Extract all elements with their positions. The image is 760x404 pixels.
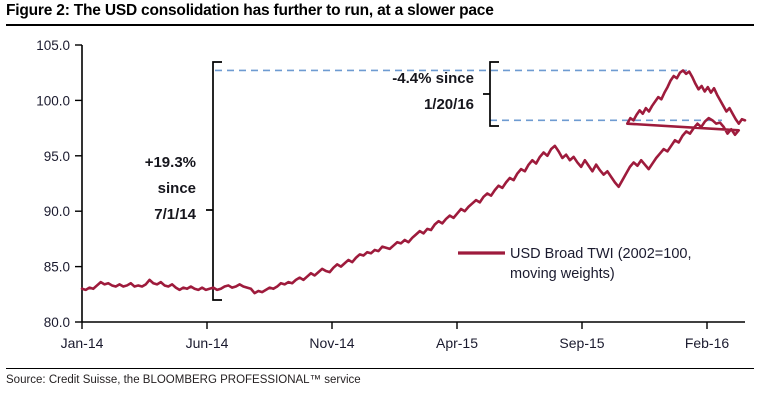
y-axis-ticks (75, 45, 82, 322)
x-tick-label-sep15: Sep-15 (559, 335, 604, 351)
right-annotation-line1: -4.4% since (392, 70, 474, 87)
right-annotation: -4.4% since 1/20/16 (392, 70, 474, 113)
figure-title: Figure 2: The USD consolidation has furt… (6, 2, 754, 20)
legend-label-line1: USD Broad TWI (2002=100, (510, 246, 691, 262)
source-note: Source: Credit Suisse, the BLOOMBERG PRO… (6, 374, 361, 386)
left-annotation-line2: since (158, 180, 196, 197)
source-divider (6, 368, 754, 369)
line-chart: 105.0 100.0 95.0 90.0 85.0 80.0 Jan-14 J… (0, 30, 760, 365)
x-tick-label-apr15: Apr-15 (436, 335, 478, 351)
title-divider (6, 24, 754, 26)
y-tick-label-90: 90.0 (44, 204, 70, 219)
left-brace (206, 62, 222, 300)
left-annotation-line3: 7/1/14 (154, 206, 196, 223)
y-tick-label-80: 80.0 (44, 315, 70, 330)
y-tick-label-105: 105.0 (36, 38, 70, 53)
right-annotation-line2: 1/20/16 (424, 96, 474, 113)
chart-plot-area: 105.0 100.0 95.0 90.0 85.0 80.0 Jan-14 J… (0, 30, 760, 365)
chart-legend: USD Broad TWI (2002=100, moving weights) (458, 246, 691, 282)
left-annotation-line1: +19.3% (145, 154, 196, 171)
left-annotation: +19.3% since 7/1/14 (145, 154, 197, 223)
right-brace (483, 62, 499, 126)
figure-container: Figure 2: The USD consolidation has furt… (0, 0, 760, 404)
x-tick-label-jun14: Jun-14 (186, 335, 229, 351)
y-tick-label-95: 95.0 (44, 149, 70, 164)
y-tick-label-85: 85.0 (44, 260, 70, 275)
x-axis-ticks (82, 322, 707, 329)
legend-label-line2: moving weights) (510, 266, 615, 282)
x-tick-label-nov14: Nov-14 (309, 335, 354, 351)
x-tick-label-jan14: Jan-14 (61, 335, 104, 351)
y-tick-label-100: 100.0 (36, 93, 70, 108)
x-tick-label-feb16: Feb-16 (685, 335, 730, 351)
